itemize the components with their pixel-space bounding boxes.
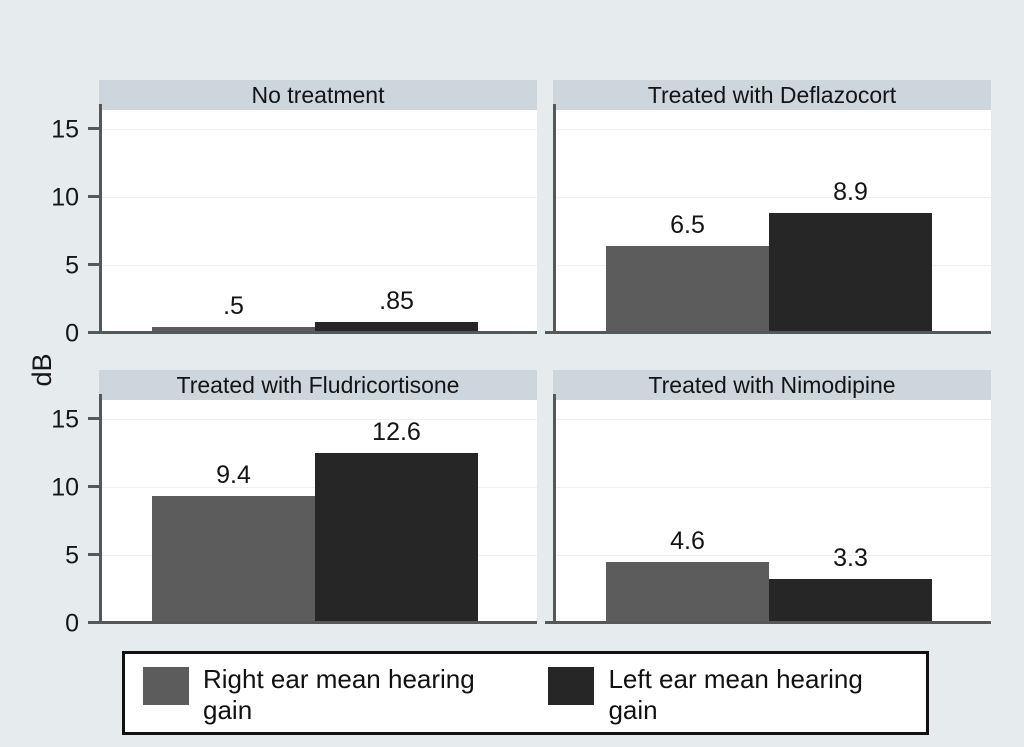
y-axis-line bbox=[553, 394, 556, 624]
gridline bbox=[99, 419, 537, 420]
gridline bbox=[553, 419, 991, 420]
bar-value-label: 12.6 bbox=[372, 418, 421, 447]
y-axis-tick-label: 15 bbox=[51, 406, 79, 435]
y-axis-tick-label: 5 bbox=[65, 252, 79, 281]
bar-right-ear bbox=[606, 562, 769, 624]
y-axis-tick bbox=[88, 331, 99, 334]
y-axis-tick-label: 10 bbox=[51, 184, 79, 213]
chart-panel: Treated with Fludricortisone9.412.605101… bbox=[99, 370, 537, 624]
panel-title: No treatment bbox=[99, 80, 537, 110]
y-axis-line bbox=[99, 104, 102, 334]
bar-right-ear bbox=[606, 246, 769, 334]
y-axis-tick bbox=[88, 621, 99, 624]
y-axis-tick-label: 15 bbox=[51, 116, 79, 145]
y-axis-line bbox=[553, 104, 556, 334]
bar-value-label: 9.4 bbox=[216, 461, 251, 490]
bar-value-label: 6.5 bbox=[670, 211, 705, 240]
chart-panel: Treated with Nimodipine4.63.3 bbox=[553, 370, 991, 624]
y-axis-tick bbox=[88, 417, 99, 420]
y-axis-tick bbox=[88, 553, 99, 556]
chart-legend: Right ear mean hearing gainLeft ear mean… bbox=[122, 651, 929, 735]
x-axis-line bbox=[545, 331, 991, 334]
legend-label: Left ear mean hearing gain bbox=[608, 664, 908, 726]
chart-figure: dB No treatment.5.85051015Treated with D… bbox=[0, 0, 1024, 747]
bar-left-ear bbox=[769, 213, 932, 334]
plot-area: 9.412.6051015 bbox=[99, 400, 537, 624]
gridline bbox=[553, 555, 991, 556]
bar-left-ear bbox=[315, 453, 478, 624]
gridline bbox=[553, 129, 991, 130]
plot-area: 6.58.9 bbox=[553, 110, 991, 334]
gridline bbox=[553, 197, 991, 198]
gridline bbox=[99, 265, 537, 266]
gridline bbox=[99, 197, 537, 198]
y-axis-tick-label: 0 bbox=[65, 610, 79, 639]
legend-label: Right ear mean hearing gain bbox=[203, 664, 503, 726]
bar-right-ear bbox=[152, 496, 315, 624]
x-axis-line bbox=[545, 621, 991, 624]
panel-title: Treated with Nimodipine bbox=[553, 370, 991, 400]
x-axis-line bbox=[91, 331, 537, 334]
chart-panel: No treatment.5.85051015 bbox=[99, 80, 537, 334]
chart-panel: Treated with Deflazocort6.58.9 bbox=[553, 80, 991, 334]
y-axis-tick-label: 0 bbox=[65, 320, 79, 349]
y-axis-tick-label: 10 bbox=[51, 474, 79, 503]
bar-value-label: 3.3 bbox=[833, 544, 868, 573]
left-ear-swatch-icon bbox=[548, 667, 594, 705]
panel-title: Treated with Fludricortisone bbox=[99, 370, 537, 400]
y-axis-tick-label: 5 bbox=[65, 542, 79, 571]
plot-area: 4.63.3 bbox=[553, 400, 991, 624]
y-axis-tick bbox=[88, 195, 99, 198]
x-axis-line bbox=[91, 621, 537, 624]
bar-left-ear bbox=[769, 579, 932, 624]
y-axis-tick bbox=[88, 127, 99, 130]
y-axis-title: dB bbox=[12, 340, 72, 400]
legend-entry: Left ear mean hearing gain bbox=[548, 654, 926, 726]
bar-value-label: 8.9 bbox=[833, 178, 868, 207]
plot-area: .5.85051015 bbox=[99, 110, 537, 334]
bar-value-label: .85 bbox=[379, 287, 414, 316]
gridline bbox=[99, 129, 537, 130]
bar-value-label: 4.6 bbox=[670, 527, 705, 556]
y-axis-tick bbox=[88, 485, 99, 488]
y-axis-line bbox=[99, 394, 102, 624]
bar-value-label: .5 bbox=[223, 292, 244, 321]
right-ear-swatch-icon bbox=[143, 667, 189, 705]
y-axis-tick bbox=[88, 263, 99, 266]
panel-title: Treated with Deflazocort bbox=[553, 80, 991, 110]
gridline bbox=[553, 487, 991, 488]
legend-entry: Right ear mean hearing gain bbox=[143, 654, 540, 726]
